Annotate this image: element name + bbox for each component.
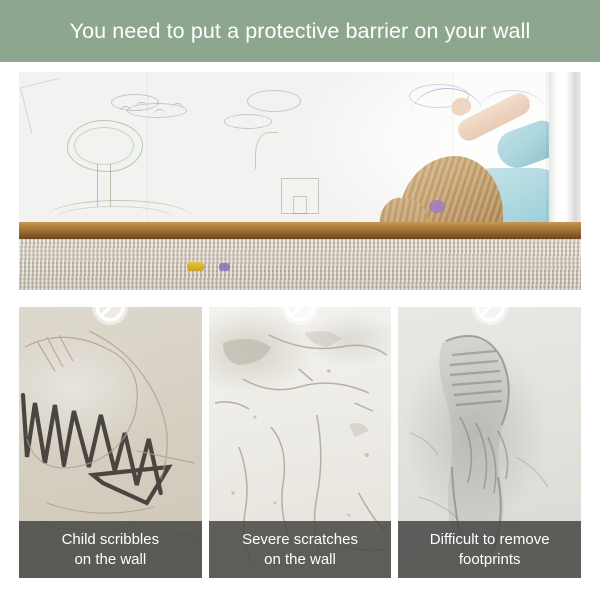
door-panel — [549, 72, 581, 224]
prohibition-icon — [91, 307, 129, 326]
panel-caption: Child scribbles on the wall — [19, 521, 202, 578]
prohibition-icon — [281, 307, 319, 326]
prohibition-icon — [471, 307, 509, 326]
wall-seam — [147, 72, 148, 224]
caption-line-1: Difficult to remove — [430, 531, 550, 548]
page-title: You need to put a protective barrier on … — [70, 19, 531, 44]
panel-caption: Severe scratches on the wall — [209, 521, 392, 578]
wood-baseboard — [19, 222, 581, 239]
carpet-floor — [19, 239, 581, 290]
door-casing-edge — [546, 72, 549, 224]
girl-hair-tie — [429, 200, 445, 213]
caption-line-2: on the wall — [74, 551, 146, 568]
caption-line-2: on the wall — [264, 551, 336, 568]
panel-caption: Difficult to remove footprints — [398, 521, 581, 578]
hero-photo — [19, 72, 581, 290]
header-banner: You need to put a protective barrier on … — [0, 0, 600, 62]
caption-line-1: Child scribbles — [62, 531, 160, 548]
crayon-toy — [219, 263, 230, 271]
panel-child-scribbles[interactable]: Child scribbles on the wall — [19, 307, 202, 578]
panel-difficult-footprints[interactable]: Difficult to remove footprints — [398, 307, 581, 578]
panel-severe-scratches[interactable]: Severe scratches on the wall — [209, 307, 392, 578]
caption-line-2: footprints — [459, 551, 521, 568]
problem-panels: Child scribbles on the wall — [19, 307, 581, 578]
caption-line-1: Severe scratches — [242, 531, 358, 548]
crayon-toy — [187, 262, 204, 271]
